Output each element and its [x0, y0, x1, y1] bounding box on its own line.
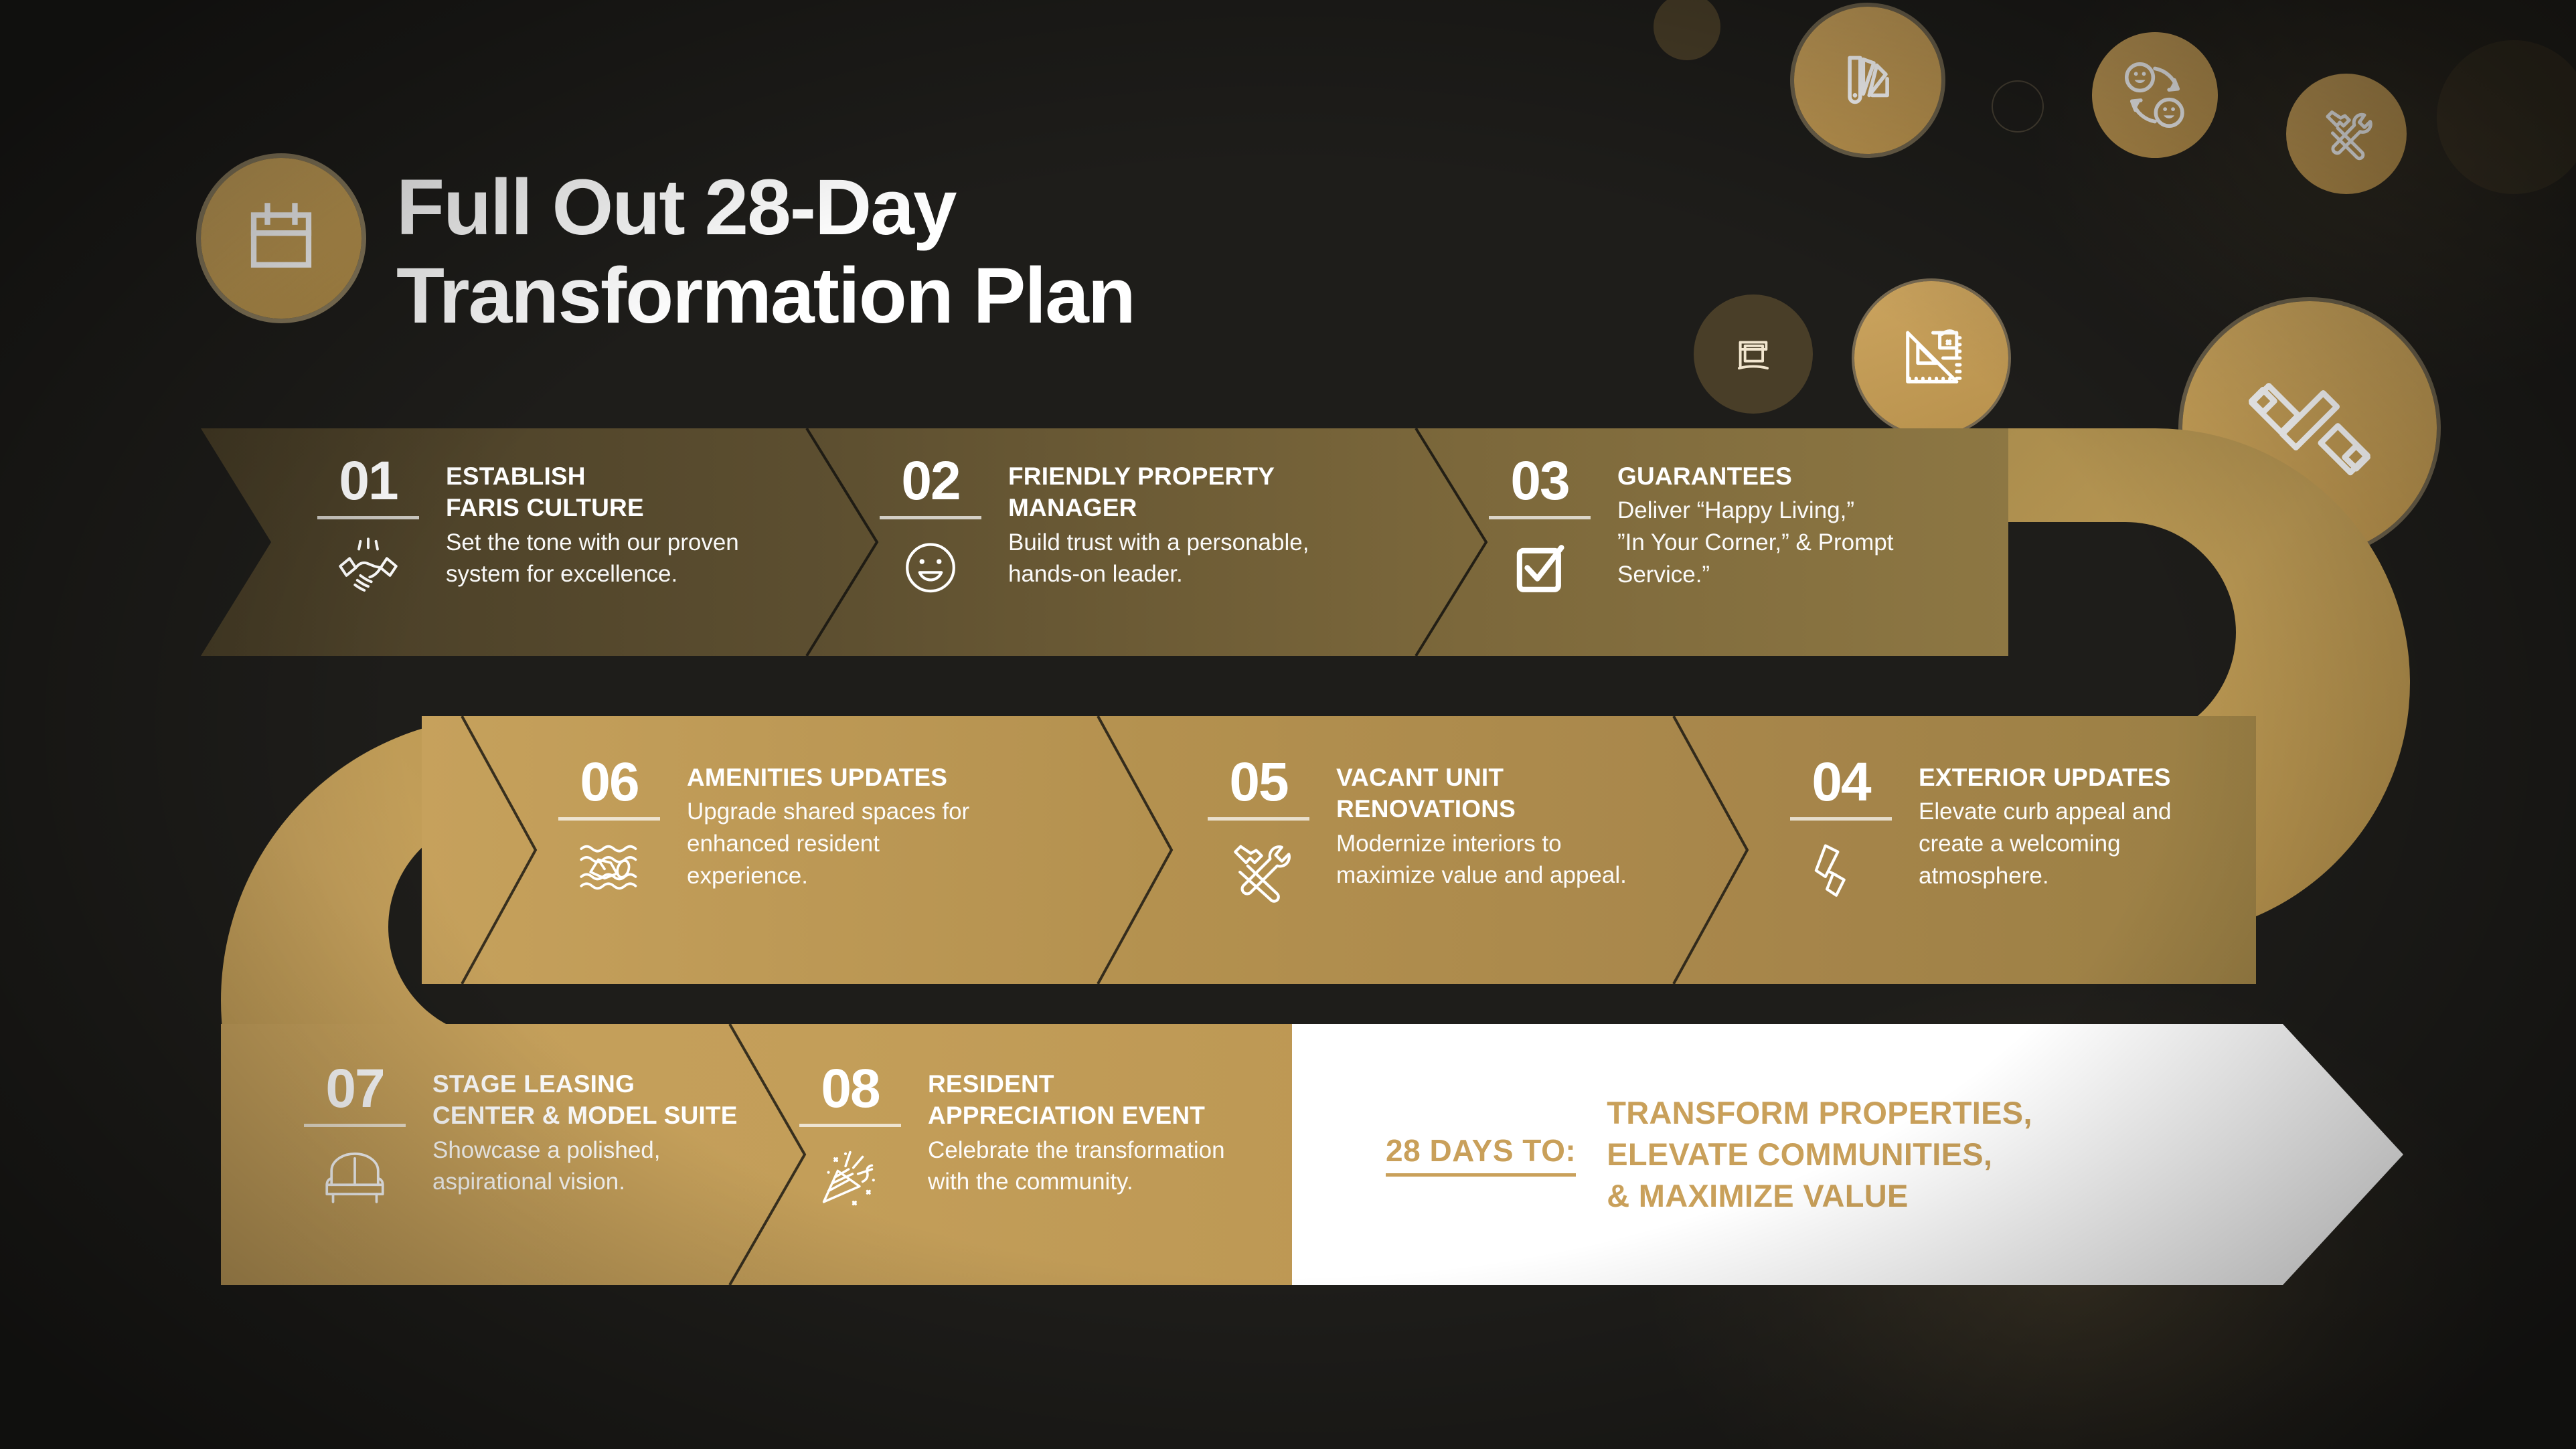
deco-circle-color-swatch [1794, 7, 1941, 154]
page-header: Full Out 28-Day Transformation Plan [201, 154, 1135, 340]
step-02-text: FRIENDLY PROPERTY MANAGER Build trust wi… [1008, 458, 1309, 605]
step-card-03[interactable]: 03 GUARANTEES Deliver “Happy Living,” ” [1479, 428, 2082, 656]
divider [558, 817, 660, 821]
serpentine-track: 01 [0, 428, 2576, 1298]
step-number: 08 [821, 1066, 879, 1113]
deco-circle-two-smileys [2092, 32, 2218, 158]
infographic-canvas: Full Out 28-Day Transformation Plan [0, 0, 2576, 1449]
divider [1208, 817, 1309, 821]
color-swatch-fan-icon [1830, 43, 1905, 118]
page-title-line-2: Transformation Plan [396, 252, 1135, 340]
step-card-01[interactable]: 01 [308, 428, 884, 656]
step-number: 06 [580, 759, 638, 806]
step-card-02[interactable]: 02 FRIENDLY PRO [870, 428, 1473, 656]
step-title: ESTABLISH FARIS CULTURE [446, 460, 739, 524]
divider [1790, 817, 1892, 821]
step-description: Upgrade shared spaces for enhanced resid… [687, 796, 969, 891]
step-05-numblock: 05 [1198, 759, 1319, 906]
divider [317, 516, 419, 519]
step-description: Celebrate the transformation with the co… [928, 1134, 1225, 1198]
step-07-numblock: 07 [295, 1066, 415, 1213]
deco-circle-empty-ring [1992, 80, 2044, 133]
smiley-face-icon [892, 527, 969, 605]
divider [799, 1124, 901, 1127]
divider [304, 1124, 406, 1127]
step-card-06[interactable]: 06 [549, 730, 1138, 957]
step-04-numblock: 04 [1781, 759, 1901, 906]
divider [880, 516, 981, 519]
final-banner: 28 DAYS TO: TRANSFORM PROPERTIES, ELEVAT… [1332, 1024, 2403, 1285]
step-description: Showcase a polished, aspirational vision… [432, 1134, 738, 1198]
step-title: STAGE LEASING CENTER & MODEL SUITE [432, 1068, 738, 1132]
step-01-text: ESTABLISH FARIS CULTURE Set the tone wit… [446, 458, 739, 605]
paint-roller-icon [1802, 829, 1880, 906]
step-description: Deliver “Happy Living,” ”In Your Corner,… [1617, 495, 1893, 590]
step-title: EXTERIOR UPDATES [1919, 762, 2172, 793]
step-description: Set the tone with our proven system for … [446, 527, 739, 590]
step-card-07[interactable]: 07 [295, 1031, 830, 1258]
hammer-wrench-icon [1220, 829, 1297, 906]
floorplan-blueprint-icon [1889, 316, 1974, 400]
deco-circle-blur-farright [2437, 40, 2576, 194]
step-06-text: AMENITIES UPDATES Upgrade shared spaces … [687, 759, 969, 906]
step-05-text: VACANT UNIT RENOVATIONS Modernize interi… [1336, 759, 1627, 906]
step-number: 05 [1229, 759, 1287, 806]
step-number: 02 [901, 458, 959, 505]
deco-circle-floorplan [1854, 281, 2008, 435]
step-description: Modernize interiors to maximize value an… [1336, 828, 1627, 891]
pool-water-icon [570, 829, 648, 906]
header-calendar-badge [201, 158, 361, 319]
step-title: VACANT UNIT RENOVATIONS [1336, 762, 1627, 825]
step-card-05[interactable]: 05 VACANT UNIT RENOVATIONS [1198, 730, 1787, 957]
handshake-icon [329, 527, 407, 605]
step-02-numblock: 02 [870, 458, 991, 605]
step-description: Build trust with a personable, hands-on … [1008, 527, 1309, 590]
final-banner-lead: 28 DAYS TO: [1386, 1132, 1576, 1177]
header-title-block: Full Out 28-Day Transformation Plan [396, 154, 1135, 340]
final-banner-lines: TRANSFORM PROPERTIES, ELEVATE COMMUNITIE… [1607, 1092, 2032, 1217]
sofa-icon [316, 1135, 394, 1213]
step-title: FRIENDLY PROPERTY MANAGER [1008, 460, 1309, 524]
step-03-text: GUARANTEES Deliver “Happy Living,” ”In Y… [1617, 458, 1893, 605]
step-description: Elevate curb appeal and create a welcomi… [1919, 796, 2172, 891]
step-card-08[interactable]: 08 [790, 1031, 1339, 1258]
step-card-04[interactable]: 04 EXTERIOR UPDATES El [1781, 730, 2370, 957]
divider [1489, 516, 1591, 519]
step-03-numblock: 03 [1479, 458, 1600, 605]
party-popper-icon [811, 1135, 889, 1213]
step-number: 03 [1510, 458, 1568, 505]
hammer-wrench-icon [2310, 98, 2383, 170]
bed-furniture-icon [1724, 325, 1783, 383]
two-smileys-arrows-icon [2111, 51, 2199, 139]
step-01-numblock: 01 [308, 458, 428, 605]
step-06-numblock: 06 [549, 759, 669, 906]
step-08-text: RESIDENT APPRECIATION EVENT Celebrate th… [928, 1066, 1225, 1213]
step-title: GUARANTEES [1617, 460, 1893, 492]
step-title: AMENITIES UPDATES [687, 762, 969, 793]
deco-circle-bed-furniture [1694, 294, 1813, 414]
step-04-text: EXTERIOR UPDATES Elevate curb appeal and… [1919, 759, 2172, 906]
step-07-text: STAGE LEASING CENTER & MODEL SUITE Showc… [432, 1066, 738, 1213]
deco-circle-hammer-wrench [2286, 74, 2407, 194]
step-title: RESIDENT APPRECIATION EVENT [928, 1068, 1225, 1132]
page-title-line-1: Full Out 28-Day [396, 163, 1135, 252]
step-number: 01 [339, 458, 397, 505]
deco-circle-blur-topright [1654, 0, 1720, 60]
step-number: 07 [325, 1066, 384, 1113]
calendar-icon [238, 195, 324, 281]
step-08-numblock: 08 [790, 1066, 910, 1213]
step-number: 04 [1812, 759, 1870, 806]
checkbox-check-icon [1501, 527, 1579, 605]
